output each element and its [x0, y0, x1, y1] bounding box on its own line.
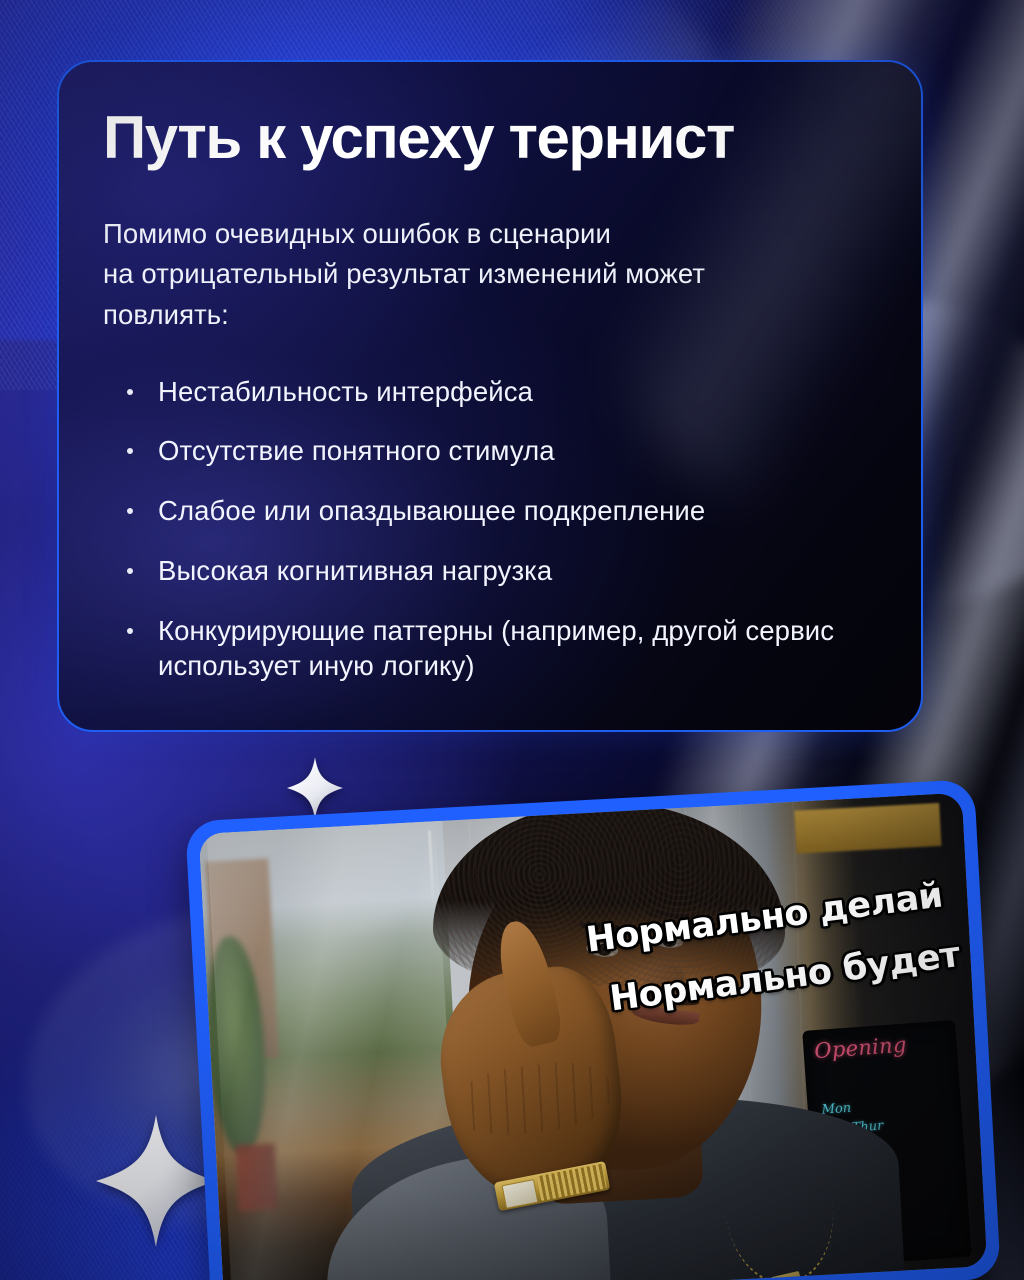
factors-list: Нестабильность интерфейса Отсутствие пон… [103, 374, 881, 685]
photo-knuckles [453, 1055, 615, 1141]
intro-line-2: на отрицательный результат изменений мож… [103, 254, 881, 295]
list-item: Нестабильность интерфейса [125, 374, 881, 410]
intro-paragraph: Помимо очевидных ошибок в сценарии на от… [103, 214, 881, 336]
list-item-label: Высокая когнитивная нагрузка [158, 555, 552, 586]
list-item: Конкурирующие паттерны (например, другой… [125, 613, 881, 685]
slide-canvas: Путь к успеху тернист Помимо очевидных о… [0, 0, 1024, 1280]
intro-line-3: повлиять: [103, 295, 881, 336]
list-item: Отсутствие понятного стимула [125, 433, 881, 469]
list-item: Слабое или опаздывающее подкрепление [125, 493, 881, 529]
bullet-dot-icon [127, 448, 133, 454]
intro-line-1: Помимо очевидных ошибок в сценарии [103, 214, 881, 255]
list-item-label: Слабое или опаздывающее подкрепление [158, 495, 705, 526]
bullet-dot-icon [127, 628, 133, 634]
content-card: Путь к успеху тернист Помимо очевидных о… [57, 60, 923, 732]
photo-person [351, 799, 867, 1280]
bullet-dot-icon [127, 508, 133, 514]
list-item-label: Нестабильность интерфейса [158, 376, 533, 407]
meme-photo: Opening Mon Tue-Thur Fri -Sat Sunday [199, 793, 988, 1280]
photo-hair [432, 799, 787, 989]
meme-photo-card[interactable]: Opening Mon Tue-Thur Fri -Sat Sunday [185, 779, 1001, 1280]
list-item-label: Конкурирующие паттерны (например, другой… [158, 615, 834, 682]
photo-watch-face [501, 1178, 539, 1208]
photo-mouth [632, 1004, 701, 1028]
photo-hair-texture [432, 799, 787, 989]
bullet-dot-icon [127, 389, 133, 395]
page-title: Путь к успеху тернист [103, 106, 881, 170]
bullet-dot-icon [127, 568, 133, 574]
list-item: Высокая когнитивная нагрузка [125, 553, 881, 589]
list-item-label: Отсутствие понятного стимула [158, 435, 555, 466]
